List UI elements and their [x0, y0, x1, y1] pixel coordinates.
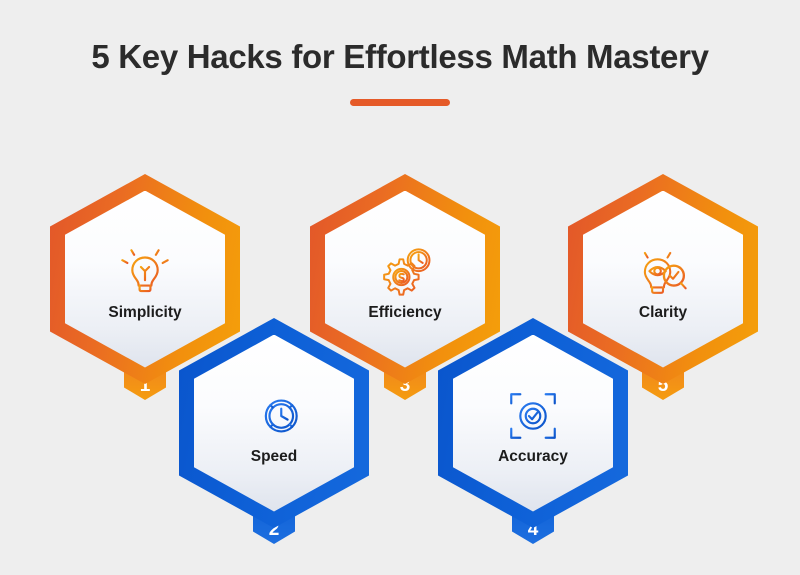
lightbulb-icon	[116, 243, 174, 301]
target-check-icon	[504, 387, 562, 445]
hex-inner-card: Efficiency	[325, 191, 485, 368]
hex-inner-card: Simplicity	[65, 191, 225, 368]
fast-clock-icon	[245, 387, 303, 445]
hex-label: Speed	[251, 449, 298, 465]
hex-inner-card: Speed	[194, 335, 354, 512]
hex-label: Efficiency	[368, 305, 441, 321]
hexagon-diagram: 1	[0, 0, 800, 575]
hex-label: Accuracy	[498, 449, 568, 465]
hex-inner-card: Accuracy	[453, 335, 613, 512]
lightbulb-eye-magnifier-icon	[634, 243, 692, 301]
gear-dollar-clock-icon	[376, 243, 434, 301]
hex-label: Simplicity	[108, 305, 181, 321]
hex-outer-ring: Clarity	[568, 174, 758, 384]
hex-inner-card: Clarity	[583, 191, 743, 368]
hex-label: Clarity	[639, 305, 687, 321]
